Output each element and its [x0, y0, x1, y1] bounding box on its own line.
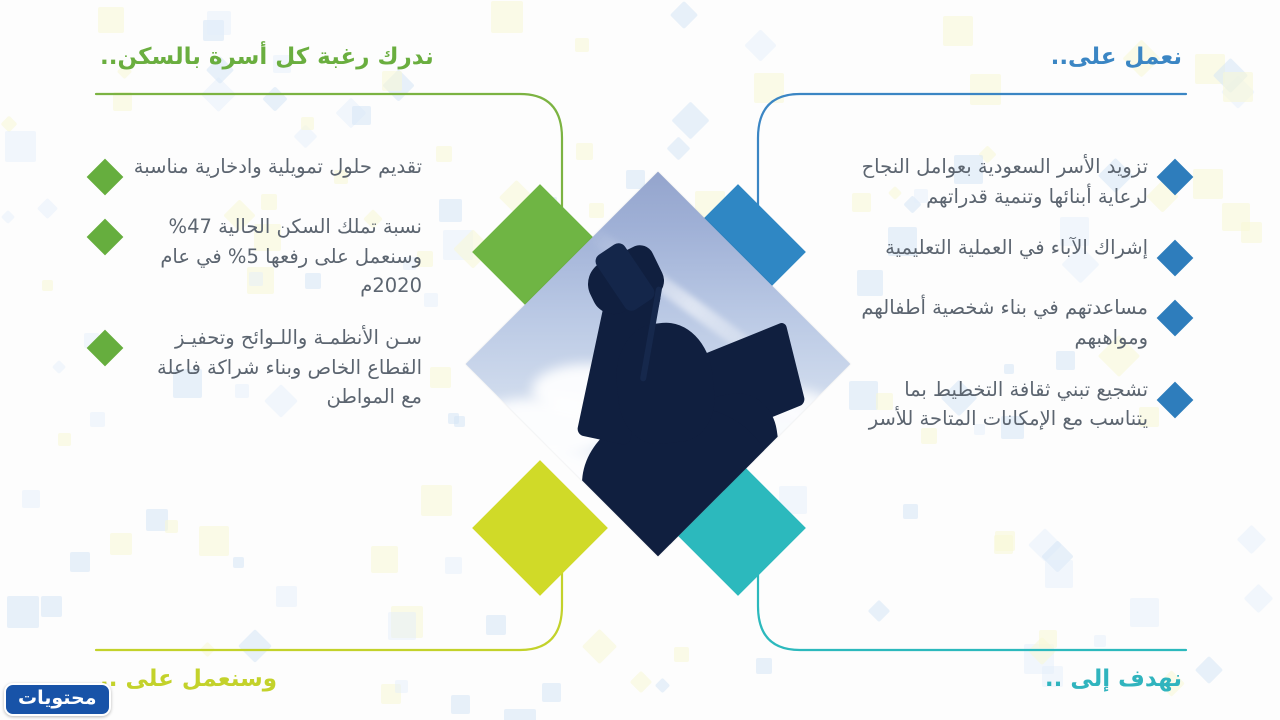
diamond-bullet-icon: [87, 329, 124, 366]
list-item: تشجيع تبني ثقافة التخطيط بما يتناسب مع ا…: [858, 375, 1188, 434]
watermark-logo: محتويات: [4, 683, 111, 716]
list-item-label: سـن الأنظمـة واللـوائح وتحفيـز القطاع ال…: [132, 323, 422, 412]
heading-top-right: نعمل على..: [1051, 44, 1182, 70]
diamond-bullet-icon: [87, 159, 124, 196]
list-item: تزويد الأسر السعودية بعوامل النجاح لرعاي…: [858, 152, 1188, 211]
list-item-label: تشجيع تبني ثقافة التخطيط بما يتناسب مع ا…: [858, 375, 1148, 434]
diamond-bullet-icon: [1157, 300, 1194, 337]
heading-bottom-left: وسنعمل على ..: [100, 666, 277, 692]
list-item-label: إشراك الآباء في العملية التعليمية: [858, 233, 1148, 263]
list-item-label: تزويد الأسر السعودية بعوامل النجاح لرعاي…: [858, 152, 1148, 211]
list-item: سـن الأنظمـة واللـوائح وتحفيـز القطاع ال…: [92, 323, 422, 412]
slide-root: نعمل على.. ندرك رغبة كل أسرة بالسكن.. وس…: [0, 0, 1280, 720]
diamond-bullet-icon: [1157, 240, 1194, 277]
list-item: نسبة تملك السكن الحالية 47% وسنعمل على ر…: [92, 212, 422, 301]
heading-top-left: ندرك رغبة كل أسرة بالسكن..: [100, 44, 434, 70]
diamond-bullet-icon: [1157, 381, 1194, 418]
center-artwork: [470, 190, 850, 590]
list-item: تقديم حلول تمويلية وادخارية مناسبة: [92, 152, 422, 190]
list-item-label: تقديم حلول تمويلية وادخارية مناسبة: [132, 152, 422, 182]
diamond-bullet-icon: [1157, 159, 1194, 196]
diamond-bullet-icon: [87, 219, 124, 256]
list-item-label: مساعدتهم في بناء شخصية أطفالهم ومواهبهم: [858, 293, 1148, 352]
heading-bottom-right: نهدف إلى ..: [1045, 666, 1182, 692]
bullet-list-right: تزويد الأسر السعودية بعوامل النجاح لرعاي…: [858, 152, 1188, 456]
list-item-label: نسبة تملك السكن الحالية 47% وسنعمل على ر…: [132, 212, 422, 301]
list-item: مساعدتهم في بناء شخصية أطفالهم ومواهبهم: [858, 293, 1188, 352]
list-item: إشراك الآباء في العملية التعليمية: [858, 233, 1188, 271]
bullet-list-left: تقديم حلول تمويلية وادخارية مناسبة نسبة …: [92, 152, 422, 434]
